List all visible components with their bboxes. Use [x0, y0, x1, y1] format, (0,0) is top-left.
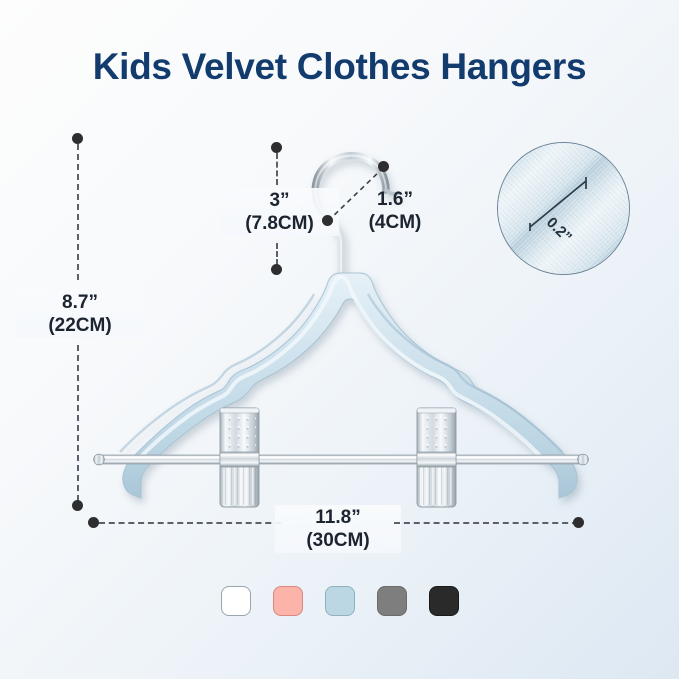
height-dim-inches: 8.7” [19, 291, 141, 314]
hook-opening-cm: (4CM) [340, 211, 450, 234]
width-dim-line-right [394, 522, 578, 524]
width-dim-cm: (30CM) [278, 529, 398, 552]
height-dim-cm: (22CM) [19, 314, 141, 337]
hanger-illustration [0, 0, 679, 679]
velvet-texture-magnifier: 0.2” [497, 142, 630, 275]
hook-opening-dot-lower [322, 215, 333, 226]
color-swatch-black[interactable] [429, 586, 459, 616]
hook-height-dot-bottom [271, 264, 282, 275]
hook-height-dot-top [271, 142, 282, 153]
width-dim-label: 11.8” (30CM) [275, 505, 401, 553]
height-dim-dot-top [72, 133, 83, 144]
hook-opening-inches: 1.6” [340, 188, 450, 211]
color-swatch-white[interactable] [221, 586, 251, 616]
page-title: Kids Velvet Clothes Hangers [0, 46, 679, 88]
color-swatch-light-blue[interactable] [325, 586, 355, 616]
hook-height-line-lower [276, 243, 278, 265]
height-dim-line-upper [77, 144, 79, 280]
width-dim-dot-left [88, 517, 99, 528]
height-dim-line-lower [77, 345, 79, 501]
width-dim-dot-right [573, 517, 584, 528]
product-infographic: Kids Velvet Clothes Hangers [0, 0, 679, 679]
hook-height-line-upper [276, 153, 278, 185]
height-dim-label: 8.7” (22CM) [16, 290, 144, 338]
color-swatch-row [0, 586, 679, 616]
height-dim-dot-bottom [72, 500, 83, 511]
hanger-bar [94, 454, 589, 465]
hook-opening-label: 1.6” (4CM) [340, 188, 450, 234]
hanger-clip-left [220, 408, 259, 507]
color-swatch-gray[interactable] [377, 586, 407, 616]
width-dim-line-left [99, 522, 281, 524]
hanger-clip-right [417, 408, 456, 507]
color-swatch-pink[interactable] [273, 586, 303, 616]
hanger-body [120, 273, 577, 498]
hook-opening-dot-upper [378, 161, 389, 172]
width-dim-inches: 11.8” [278, 506, 398, 529]
